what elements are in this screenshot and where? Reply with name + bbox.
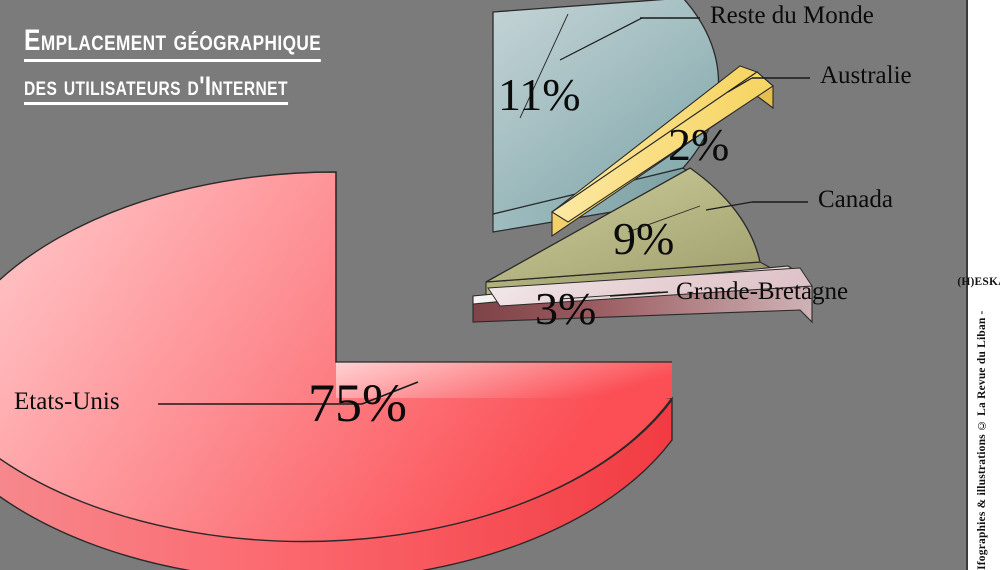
credit-text-block: Ifographies & illustrations © La Revue d… [976, 252, 988, 570]
slice-value-reste-du-monde: 11% [498, 68, 581, 121]
credit-strip: Ifographies & illustrations © La Revue d… [966, 0, 998, 570]
slice-label-grande-bretagne: Grande-Bretagne [676, 278, 848, 306]
slice-value-etats-unis: 75% [308, 372, 407, 434]
slice-value-grande-bretagne: 3% [535, 282, 596, 335]
infographic-canvas: Emplacement géographique des utilisateur… [0, 0, 1000, 570]
pie-slice-etats-unis[interactable] [0, 172, 672, 570]
slice-label-australie: Australie [820, 62, 912, 90]
slice-value-australie: 2% [668, 118, 729, 171]
chart-title: Emplacement géographique des utilisateur… [24, 26, 386, 105]
chart-title-line-2: des utilisateurs d'Internet [24, 73, 288, 106]
slice-value-canada: 9% [613, 212, 674, 265]
chart-panel: Emplacement géographique des utilisateur… [0, 0, 968, 570]
chart-title-line-1: Emplacement géographique [24, 26, 321, 62]
slice-label-canada: Canada [818, 186, 893, 214]
eska-logo-icon: (H)ESKA [957, 277, 1000, 289]
credit-text: Ifographies & illustrations © La Revue d… [976, 311, 988, 570]
slice-label-reste-du-monde: Reste du Monde [710, 2, 874, 30]
slice-label-etats-unis: Etats-Unis [14, 388, 120, 416]
